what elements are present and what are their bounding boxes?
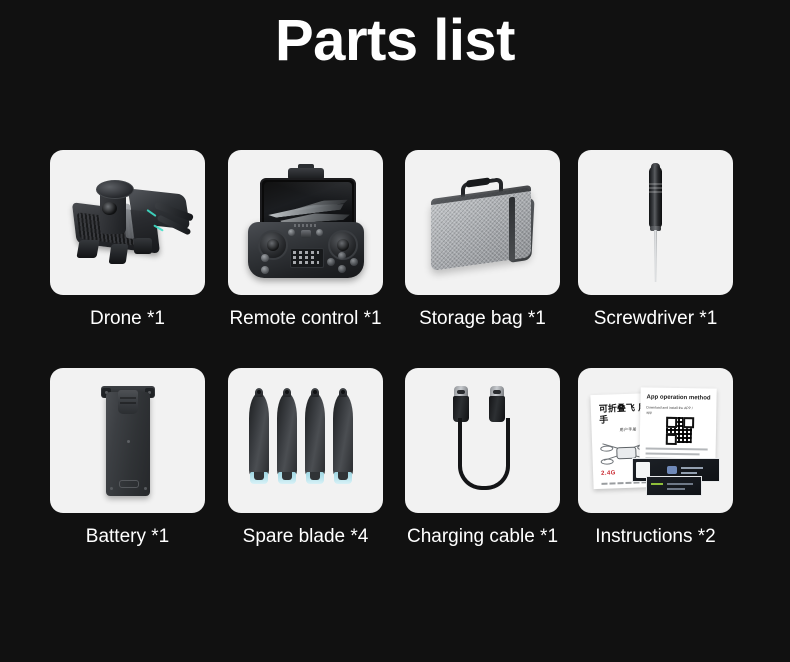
part-cell-instructions[interactable]: 可折叠飞 用户手 用户手册 [578, 368, 733, 548]
instructions-icon: 可折叠飞 用户手 用户手册 [578, 368, 733, 513]
battery-label: Battery *1 [50, 526, 205, 548]
part-cell-drone[interactable]: Drone *1 [50, 150, 205, 330]
remote-control-label: Remote control *1 [228, 308, 383, 330]
parts-list-page: Parts list [0, 0, 790, 662]
app-sheet-subtitle: Download and install the APP / app [646, 405, 696, 416]
manual-brand-mark: 2.4G [601, 470, 616, 477]
app-sheet-title: App operation method [641, 394, 717, 401]
part-cell-spare-blade[interactable]: Spare blade *4 [228, 368, 383, 548]
page-title: Parts list [0, 6, 790, 76]
spare-blade-card[interactable] [228, 368, 383, 513]
battery-icon [50, 368, 205, 513]
spare-blade-label: Spare blade *4 [228, 526, 383, 548]
part-cell-battery[interactable]: Battery *1 [50, 368, 205, 548]
charging-cable-icon [405, 368, 560, 513]
propeller-blade-icon [228, 368, 383, 513]
charging-cable-card[interactable] [405, 368, 560, 513]
remote-control-icon [228, 150, 383, 295]
storage-bag-label: Storage bag *1 [405, 308, 560, 330]
charging-cable-label: Charging cable *1 [405, 526, 560, 548]
part-cell-charging-cable[interactable]: Charging cable *1 [405, 368, 560, 548]
screwdriver-icon [578, 150, 733, 295]
instructions-card[interactable]: 可折叠飞 用户手 用户手册 [578, 368, 733, 513]
manual-subtitle-cn: 用户手册 [620, 427, 637, 434]
drone-icon [50, 150, 205, 295]
part-cell-screwdriver[interactable]: Screwdriver *1 [578, 150, 733, 330]
drone-card[interactable] [50, 150, 205, 295]
part-cell-storage-bag[interactable]: Storage bag *1 [405, 150, 560, 330]
instructions-label: Instructions *2 [578, 526, 733, 548]
storage-bag-icon [405, 150, 560, 295]
screwdriver-label: Screwdriver *1 [578, 308, 733, 330]
storage-bag-card[interactable] [405, 150, 560, 295]
battery-card[interactable] [50, 368, 205, 513]
part-cell-remote-control[interactable]: Remote control *1 [228, 150, 383, 330]
remote-control-card[interactable] [228, 150, 383, 295]
drone-label: Drone *1 [50, 308, 205, 330]
app-screenshot-small [646, 476, 702, 496]
screwdriver-card[interactable] [578, 150, 733, 295]
